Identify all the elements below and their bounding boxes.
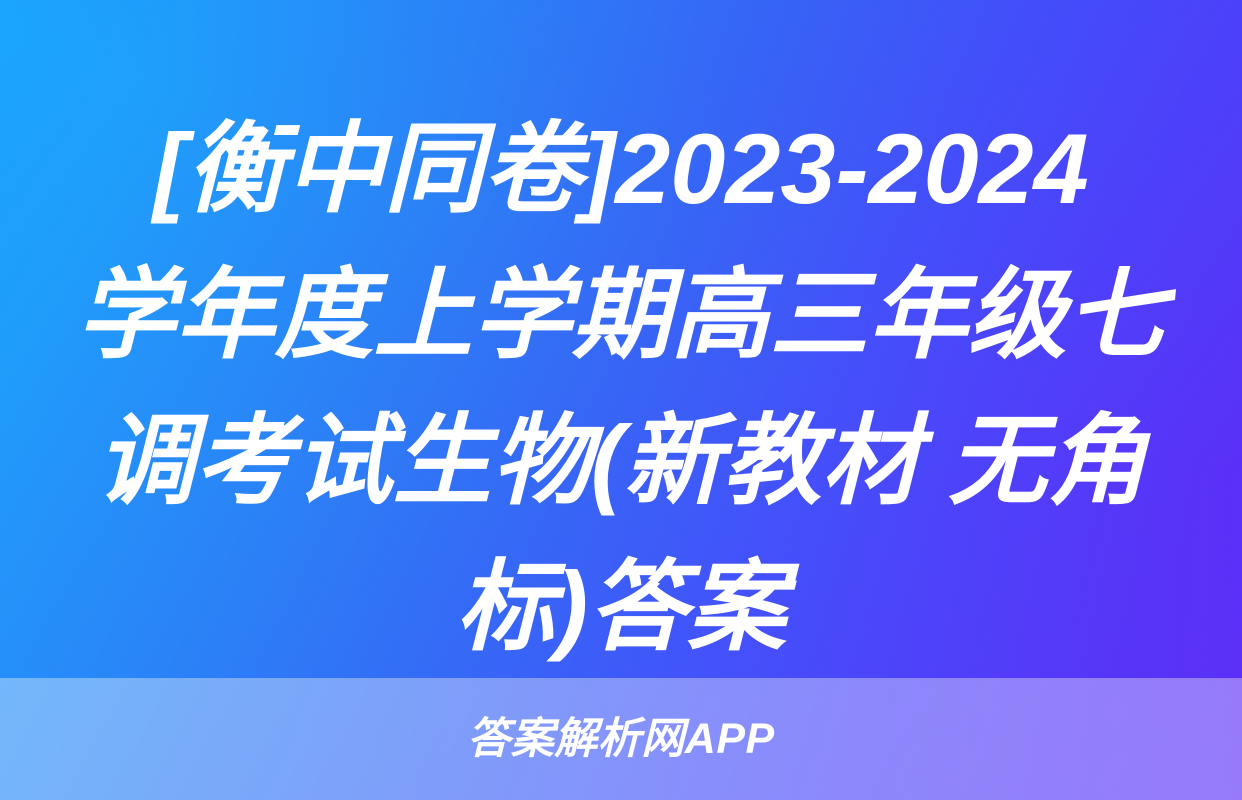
poster-banner: [衡中同卷]2023-2024 学年度上学期高三年级七 调考试生物(新教材 无角… xyxy=(0,0,1242,800)
title-line-4: 标)答案 xyxy=(72,534,1170,680)
title-line-3: 调考试生物(新教材 无角 xyxy=(72,388,1170,534)
title-line-2: 学年度上学期高三年级七 xyxy=(72,242,1170,388)
page-title: [衡中同卷]2023-2024 学年度上学期高三年级七 调考试生物(新教材 无角… xyxy=(0,96,1242,680)
footer-watermark-band: 答案解析网APP xyxy=(0,678,1242,800)
title-line-1: [衡中同卷]2023-2024 xyxy=(72,96,1170,242)
app-watermark-label: 答案解析网APP xyxy=(467,718,774,761)
